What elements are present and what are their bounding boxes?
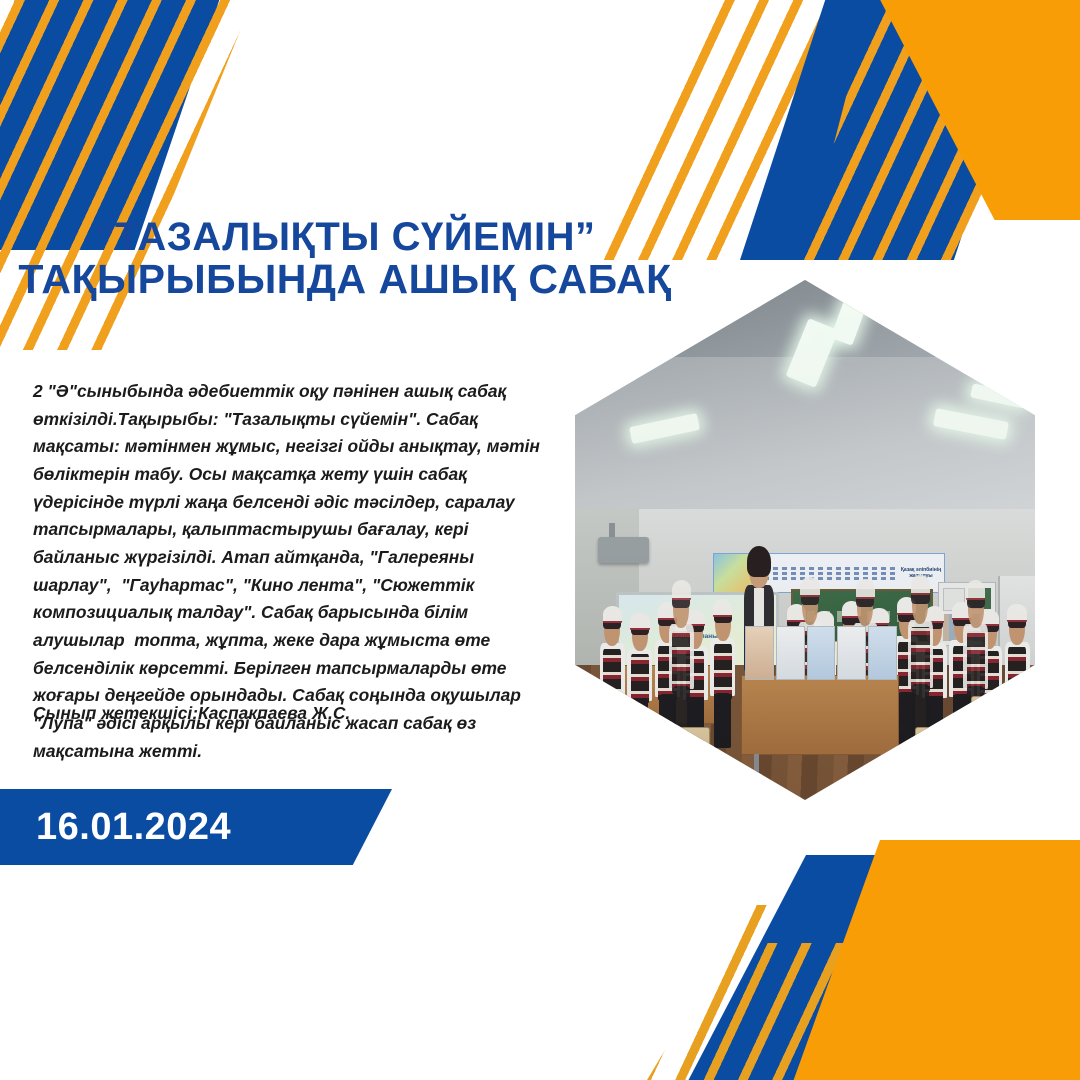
date-text: 16.01.2024 xyxy=(36,806,231,849)
top-right-blue-shape xyxy=(740,0,1080,260)
bottom-right-blue-decoration xyxy=(665,855,965,1080)
chair xyxy=(915,727,981,786)
bottom-right-orange-stripes xyxy=(620,905,950,1080)
page-title: “ТАЗАЛЫҚТЫ СҮЙЕМІН” ТАҚЫРЫБЫНДА АШЫҚ САБ… xyxy=(0,216,690,302)
poster-canvas: “ТАЗАЛЫҚТЫ СҮЙЕМІН” ТАҚЫРЫБЫНДА АШЫҚ САБ… xyxy=(0,0,1080,1080)
bottom-right-blue-shape xyxy=(665,855,965,1080)
top-right-orange-wedge xyxy=(875,0,1080,220)
top-left-decoration xyxy=(0,0,260,250)
date-ribbon: 16.01.2024 xyxy=(0,789,392,865)
chair xyxy=(971,696,1033,745)
article-signature: Сынып жетекшісі:Каспакпаева Ж.С. xyxy=(33,700,553,727)
bottom-right-orange-wedge xyxy=(790,840,1080,1080)
photo-overlay xyxy=(575,280,1035,800)
page-title-line-1: “ТАЗАЛЫҚТЫ СҮЙЕМІН” xyxy=(0,216,690,258)
page-title-line-2: ТАҚЫРЫБЫНДА АШЫҚ САБАҚ xyxy=(0,258,690,301)
top-right-blue-decoration xyxy=(740,0,1080,260)
top-left-blue-shape xyxy=(0,0,260,250)
bottom-right-blue-overlay-stripes xyxy=(665,943,965,1080)
classroom-photo: Қазақ әліпбиінің жазылуы Кері байланыс xyxy=(575,280,1035,800)
photo-scene: Қазақ әліпбиінің жазылуы Кері байланыс xyxy=(575,280,1035,800)
